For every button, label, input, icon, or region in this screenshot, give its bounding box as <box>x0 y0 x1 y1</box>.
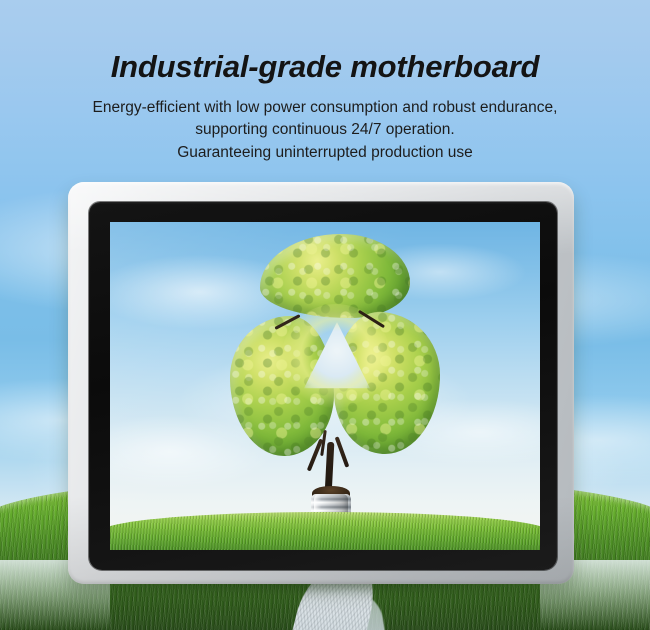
product-banner: Industrial-grade motherboard Energy-effi… <box>0 0 650 630</box>
screen-grass-texture <box>110 512 540 550</box>
banner-subtitle: Energy-efficient with low power consumpt… <box>0 84 650 166</box>
page-title: Industrial-grade motherboard <box>0 0 650 84</box>
industrial-panel-monitor <box>68 182 574 584</box>
subtitle-line-1: Energy-efficient with low power consumpt… <box>0 97 650 120</box>
leaf-cluster-top <box>260 234 410 318</box>
banner-header: Industrial-grade motherboard Energy-effi… <box>0 0 650 165</box>
recycle-tree-lightbulb-icon <box>230 230 440 530</box>
subtitle-line-3: Guaranteeing uninterrupted production us… <box>0 142 650 165</box>
subtitle-line-2: supporting continuous 24/7 operation. <box>0 119 650 142</box>
monitor-screen <box>110 222 540 550</box>
branch-right <box>335 436 350 467</box>
monitor-inner-bezel <box>89 202 557 570</box>
screen-grass <box>110 512 540 550</box>
